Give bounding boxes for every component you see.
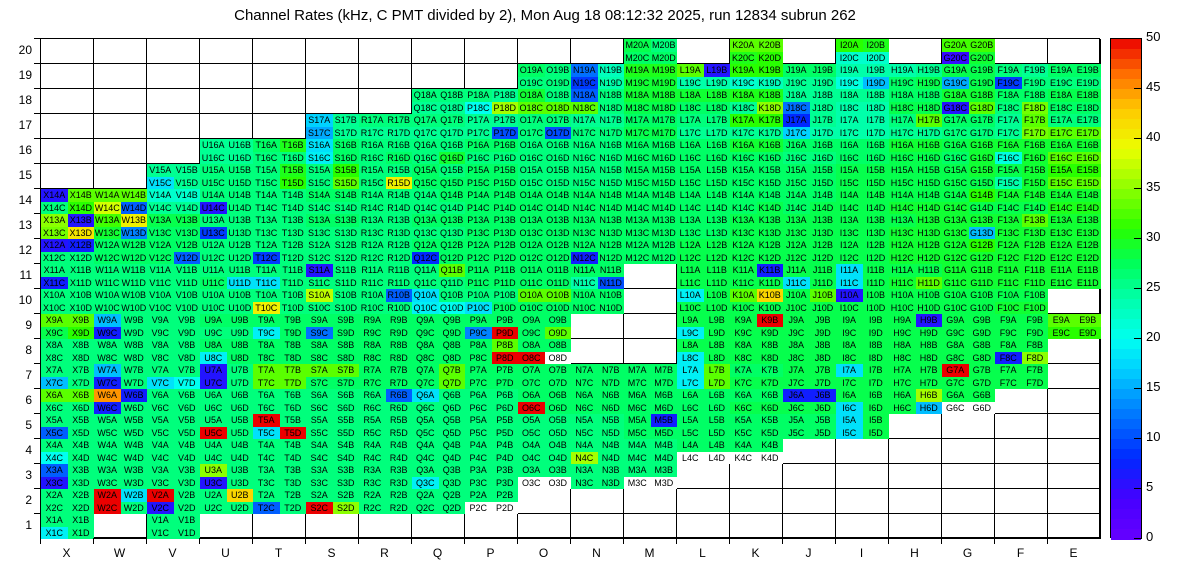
heatmap-subcell[interactable]: R2B	[386, 489, 413, 502]
heatmap-subcell[interactable]: L12A	[677, 239, 704, 252]
heatmap-tile[interactable]: R3AR3BR3CR3D	[359, 464, 412, 489]
heatmap-subcell[interactable]: Q13A	[412, 214, 439, 227]
heatmap-subcell[interactable]: H11B	[916, 264, 943, 277]
heatmap-tile[interactable]	[1048, 514, 1101, 539]
heatmap-subcell[interactable]: Q5A	[412, 414, 439, 427]
heatmap-tile[interactable]: X2AX2BX2CX2D	[41, 489, 94, 514]
heatmap-subcell[interactable]: P16A	[465, 139, 492, 152]
heatmap-subcell[interactable]: Q17D	[439, 127, 466, 140]
heatmap-subcell[interactable]: L13A	[677, 214, 704, 227]
heatmap-subcell[interactable]: L11C	[677, 277, 704, 290]
heatmap-tile[interactable]: S13AS13BS13CS13D	[306, 214, 359, 239]
heatmap-tile[interactable]	[306, 89, 359, 114]
heatmap-subcell[interactable]: I16B	[863, 139, 890, 152]
heatmap-tile[interactable]: K10AK10BK10CK10D	[730, 289, 783, 314]
heatmap-subcell[interactable]: H17B	[916, 114, 943, 127]
heatmap-subcell[interactable]: S4C	[306, 452, 333, 465]
heatmap-subcell[interactable]: Q2D	[439, 502, 466, 515]
heatmap-subcell[interactable]: R3C	[359, 477, 386, 490]
heatmap-subcell[interactable]: P7B	[492, 364, 519, 377]
heatmap-subcell[interactable]: N11C	[571, 277, 598, 290]
heatmap-tile[interactable]: I6AI6BI6CI6D	[836, 389, 889, 414]
heatmap-subcell[interactable]: F9A	[995, 314, 1022, 327]
heatmap-subcell[interactable]: I17B	[863, 114, 890, 127]
heatmap-subcell[interactable]: H17C	[889, 127, 916, 140]
heatmap-subcell[interactable]: U13A	[200, 214, 227, 227]
heatmap-subcell[interactable]: J6C	[783, 402, 810, 415]
heatmap-subcell[interactable]: F16A	[995, 139, 1022, 152]
heatmap-tile[interactable]: P9AP9BP9CP9D	[465, 314, 518, 339]
heatmap-subcell[interactable]: J16A	[783, 139, 810, 152]
heatmap-tile[interactable]	[147, 114, 200, 139]
heatmap-tile[interactable]: O14AO14BO14CO14D	[518, 189, 571, 214]
heatmap-subcell[interactable]: O15A	[518, 164, 545, 177]
heatmap-tile[interactable]: T7AT7BT7CT7D	[253, 364, 306, 389]
heatmap-tile[interactable]	[465, 514, 518, 539]
heatmap-subcell[interactable]: T14B	[280, 189, 307, 202]
heatmap-tile[interactable]: T6AT6BT6CT6D	[253, 389, 306, 414]
heatmap-subcell[interactable]: M5A	[624, 414, 651, 427]
heatmap-subcell[interactable]: H8D	[916, 352, 943, 365]
heatmap-subcell[interactable]: V8A	[147, 339, 174, 352]
heatmap-subcell[interactable]: V11C	[147, 277, 174, 290]
heatmap-subcell[interactable]: I20C	[836, 52, 863, 65]
heatmap-subcell[interactable]: V10D	[174, 302, 201, 315]
heatmap-subcell[interactable]: H8A	[889, 339, 916, 352]
heatmap-subcell[interactable]: T13C	[253, 227, 280, 240]
heatmap-subcell[interactable]: I13C	[836, 227, 863, 240]
heatmap-tile[interactable]: W7AW7BW7CW7D	[94, 364, 147, 389]
heatmap-subcell[interactable]: E17D	[1075, 127, 1102, 140]
heatmap-subcell[interactable]: V11A	[147, 264, 174, 277]
heatmap-subcell[interactable]: P3B	[492, 464, 519, 477]
heatmap-subcell[interactable]: M3D	[651, 477, 678, 490]
heatmap-tile[interactable]	[41, 164, 94, 189]
heatmap-tile[interactable]: Q5AQ5BQ5CQ5D	[412, 414, 465, 439]
heatmap-subcell[interactable]: L19C	[677, 77, 704, 90]
heatmap-subcell[interactable]: P9B	[492, 314, 519, 327]
heatmap-subcell[interactable]: S14B	[333, 189, 360, 202]
heatmap-subcell[interactable]: K5C	[730, 427, 757, 440]
heatmap-subcell[interactable]: R2A	[359, 489, 386, 502]
heatmap-subcell[interactable]: X2C	[41, 502, 68, 515]
heatmap-tile[interactable]: F7AF7BF7CF7D	[995, 364, 1048, 389]
heatmap-subcell[interactable]: K16C	[730, 152, 757, 165]
heatmap-subcell[interactable]: J9A	[783, 314, 810, 327]
heatmap-subcell[interactable]: O8C	[518, 352, 545, 365]
heatmap-subcell[interactable]: G10A	[942, 289, 969, 302]
heatmap-subcell[interactable]: G17A	[942, 114, 969, 127]
heatmap-subcell[interactable]: L13B	[704, 214, 731, 227]
heatmap-tile[interactable]: O19AO19BO19CO19D	[518, 64, 571, 89]
heatmap-subcell[interactable]: F12D	[1022, 252, 1049, 265]
heatmap-subcell[interactable]: L17D	[704, 127, 731, 140]
heatmap-tile[interactable]: W3AW3BW3CW3D	[94, 464, 147, 489]
heatmap-subcell[interactable]: T13A	[253, 214, 280, 227]
heatmap-subcell[interactable]: J9C	[783, 327, 810, 340]
heatmap-subcell[interactable]: N6A	[571, 389, 598, 402]
heatmap-tile[interactable]: G12AG12BG12CG12D	[942, 239, 995, 264]
heatmap-subcell[interactable]: V9A	[147, 314, 174, 327]
heatmap-subcell[interactable]: P13C	[465, 227, 492, 240]
heatmap-subcell[interactable]: P14C	[465, 202, 492, 215]
heatmap-tile[interactable]: F15AF15BF15CF15D	[995, 164, 1048, 189]
heatmap-subcell[interactable]: F11C	[995, 277, 1022, 290]
heatmap-subcell[interactable]: O18C	[518, 102, 545, 115]
heatmap-subcell[interactable]: Q18D	[439, 102, 466, 115]
heatmap-subcell[interactable]: O8D	[545, 352, 572, 365]
heatmap-tile[interactable]	[465, 64, 518, 89]
heatmap-subcell[interactable]: Q16B	[439, 139, 466, 152]
heatmap-subcell[interactable]: K4D	[757, 452, 784, 465]
heatmap-subcell[interactable]: Q13D	[439, 227, 466, 240]
heatmap-tile[interactable]: U12AU12BU12CU12D	[200, 239, 253, 264]
heatmap-subcell[interactable]: P6C	[465, 402, 492, 415]
heatmap-subcell[interactable]: P11D	[492, 277, 519, 290]
heatmap-subcell[interactable]: L15C	[677, 177, 704, 190]
heatmap-subcell[interactable]: L10B	[704, 289, 731, 302]
heatmap-subcell[interactable]: Q5D	[439, 427, 466, 440]
heatmap-subcell[interactable]: R4B	[386, 439, 413, 452]
heatmap-tile[interactable]: O12AO12BO12CO12D	[518, 239, 571, 264]
heatmap-subcell[interactable]: L6C	[677, 402, 704, 415]
heatmap-subcell[interactable]: G13A	[942, 214, 969, 227]
heatmap-subcell[interactable]: G14B	[969, 189, 996, 202]
heatmap-tile[interactable]: E14AE14BE14CE14D	[1048, 189, 1101, 214]
heatmap-tile[interactable]: I9AI9BI9CI9D	[836, 314, 889, 339]
heatmap-subcell[interactable]: W12C	[94, 252, 121, 265]
heatmap-subcell[interactable]: M19A	[624, 64, 651, 77]
heatmap-subcell[interactable]: O10A	[518, 289, 545, 302]
heatmap-subcell[interactable]: P3A	[465, 464, 492, 477]
heatmap-tile[interactable]: X5AX5BX5CX5D	[41, 414, 94, 439]
heatmap-subcell[interactable]: W2D	[121, 502, 148, 515]
heatmap-subcell[interactable]: I16D	[863, 152, 890, 165]
heatmap-tile[interactable]: V8AV8BV8CV8D	[147, 339, 200, 364]
heatmap-tile[interactable]: U6AU6BU6CU6D	[200, 389, 253, 414]
heatmap-subcell[interactable]: O10D	[545, 302, 572, 315]
heatmap-subcell[interactable]: T3B	[280, 464, 307, 477]
heatmap-subcell[interactable]: K19D	[757, 77, 784, 90]
heatmap-tile[interactable]: O8AO8BO8CO8D	[518, 339, 571, 364]
heatmap-subcell[interactable]: O16C	[518, 152, 545, 165]
heatmap-subcell[interactable]: P5D	[492, 427, 519, 440]
heatmap-tile[interactable]: W6AW6BW6CW6D	[94, 389, 147, 414]
heatmap-subcell[interactable]: I7C	[836, 377, 863, 390]
heatmap-subcell[interactable]: S4A	[306, 439, 333, 452]
heatmap-subcell[interactable]: F14D	[1022, 202, 1049, 215]
heatmap-subcell[interactable]: J19C	[783, 77, 810, 90]
heatmap-subcell[interactable]: J12D	[810, 252, 837, 265]
heatmap-subcell[interactable]: M3B	[651, 464, 678, 477]
heatmap-subcell[interactable]: S4D	[333, 452, 360, 465]
heatmap-subcell[interactable]: Q9D	[439, 327, 466, 340]
heatmap-tile[interactable]: M16AM16BM16CM16D	[624, 139, 677, 164]
heatmap-tile[interactable]	[412, 39, 465, 64]
heatmap-subcell[interactable]: S6C	[306, 402, 333, 415]
heatmap-tile[interactable]: M17AM17BM17CM17D	[624, 114, 677, 139]
heatmap-subcell[interactable]: K7C	[730, 377, 757, 390]
heatmap-subcell[interactable]: S12D	[333, 252, 360, 265]
heatmap-subcell[interactable]: N6B	[598, 389, 625, 402]
heatmap-subcell[interactable]: T10B	[280, 289, 307, 302]
heatmap-subcell[interactable]: T8B	[280, 339, 307, 352]
heatmap-subcell[interactable]: O4D	[545, 452, 572, 465]
heatmap-subcell[interactable]: R7B	[386, 364, 413, 377]
heatmap-subcell[interactable]: T3C	[253, 477, 280, 490]
heatmap-tile[interactable]: R11AR11BR11CR11D	[359, 264, 412, 289]
heatmap-subcell[interactable]: I13B	[863, 214, 890, 227]
heatmap-tile[interactable]	[836, 439, 889, 464]
heatmap-tile[interactable]: H18AH18BH18CH18D	[889, 89, 942, 114]
heatmap-tile[interactable]: L10AL10BL10CL10D	[677, 289, 730, 314]
heatmap-subcell[interactable]: F14C	[995, 202, 1022, 215]
heatmap-tile[interactable]: S9AS9BS9CS9D	[306, 314, 359, 339]
heatmap-subcell[interactable]: V9D	[174, 327, 201, 340]
heatmap-subcell[interactable]: R3B	[386, 464, 413, 477]
heatmap-subcell[interactable]: W8D	[121, 352, 148, 365]
heatmap-subcell[interactable]: W4D	[121, 452, 148, 465]
heatmap-tile[interactable]	[677, 514, 730, 539]
heatmap-subcell[interactable]: T16C	[253, 152, 280, 165]
heatmap-tile[interactable]	[94, 64, 147, 89]
heatmap-tile[interactable]: S6AS6BS6CS6D	[306, 389, 359, 414]
heatmap-subcell[interactable]: V15C	[147, 177, 174, 190]
heatmap-tile[interactable]	[571, 514, 624, 539]
heatmap-subcell[interactable]: Q11C	[412, 277, 439, 290]
heatmap-tile[interactable]	[995, 489, 1048, 514]
heatmap-tile[interactable]: L12AL12BL12CL12D	[677, 239, 730, 264]
heatmap-subcell[interactable]: E12D	[1075, 252, 1102, 265]
heatmap-subcell[interactable]: W3B	[121, 464, 148, 477]
heatmap-subcell[interactable]: K8A	[730, 339, 757, 352]
heatmap-subcell[interactable]: E13B	[1075, 214, 1102, 227]
heatmap-tile[interactable]: V5AV5BV5CV5D	[147, 414, 200, 439]
heatmap-tile[interactable]: I16AI16BI16CI16D	[836, 139, 889, 164]
heatmap-subcell[interactable]: E11D	[1075, 277, 1102, 290]
heatmap-subcell[interactable]: F12B	[1022, 239, 1049, 252]
heatmap-tile[interactable]: U10AU10BU10CU10D	[200, 289, 253, 314]
heatmap-subcell[interactable]: I19A	[836, 64, 863, 77]
heatmap-subcell[interactable]: F17D	[1022, 127, 1049, 140]
heatmap-tile[interactable]	[94, 514, 147, 539]
heatmap-subcell[interactable]: S5A	[306, 414, 333, 427]
heatmap-subcell[interactable]: X7A	[41, 364, 68, 377]
heatmap-subcell[interactable]: R6A	[359, 389, 386, 402]
heatmap-subcell[interactable]: G10B	[969, 289, 996, 302]
heatmap-subcell[interactable]: Q17B	[439, 114, 466, 127]
heatmap-subcell[interactable]: U12D	[227, 252, 254, 265]
heatmap-subcell[interactable]: M6A	[624, 389, 651, 402]
heatmap-tile[interactable]: Q10AQ10BQ10CQ10D	[412, 289, 465, 314]
heatmap-tile[interactable]	[1048, 289, 1101, 314]
heatmap-subcell[interactable]: R7A	[359, 364, 386, 377]
heatmap-subcell[interactable]: P5C	[465, 427, 492, 440]
heatmap-subcell[interactable]: W9C	[94, 327, 121, 340]
heatmap-subcell[interactable]: G13C	[942, 227, 969, 240]
heatmap-subcell[interactable]: F18D	[1022, 102, 1049, 115]
heatmap-subcell[interactable]: P10C	[465, 302, 492, 315]
heatmap-tile[interactable]: I12AI12BI12CI12D	[836, 239, 889, 264]
heatmap-subcell[interactable]: R14B	[386, 189, 413, 202]
heatmap-subcell[interactable]: F13C	[995, 227, 1022, 240]
heatmap-subcell[interactable]: S9A	[306, 314, 333, 327]
heatmap-subcell[interactable]: J8B	[810, 339, 837, 352]
heatmap-subcell[interactable]: F18A	[995, 89, 1022, 102]
heatmap-subcell[interactable]: I14D	[863, 202, 890, 215]
heatmap-subcell[interactable]: R7D	[386, 377, 413, 390]
heatmap-subcell[interactable]: V4A	[147, 439, 174, 452]
heatmap-subcell[interactable]: K11A	[730, 264, 757, 277]
heatmap-subcell[interactable]: S3B	[333, 464, 360, 477]
heatmap-subcell[interactable]: R10D	[386, 302, 413, 315]
heatmap-subcell[interactable]: G12A	[942, 239, 969, 252]
heatmap-tile[interactable]	[942, 464, 995, 489]
heatmap-tile[interactable]: N19AN19BN19CN19D	[571, 64, 624, 89]
heatmap-subcell[interactable]: K20C	[730, 52, 757, 65]
heatmap-subcell[interactable]: Q14D	[439, 202, 466, 215]
heatmap-tile[interactable]	[41, 64, 94, 89]
heatmap-subcell[interactable]: O19C	[518, 77, 545, 90]
heatmap-subcell[interactable]: R3D	[386, 477, 413, 490]
heatmap-tile[interactable]: H6AH6BH6CH6D	[889, 389, 942, 414]
heatmap-subcell[interactable]: S14A	[306, 189, 333, 202]
heatmap-subcell[interactable]: X2D	[68, 502, 95, 515]
heatmap-subcell[interactable]: F19C	[995, 77, 1022, 90]
heatmap-subcell[interactable]: L18A	[677, 89, 704, 102]
heatmap-subcell[interactable]: N12A	[571, 239, 598, 252]
heatmap-tile[interactable]: T9AT9BT9CT9D	[253, 314, 306, 339]
heatmap-subcell[interactable]: O18D	[545, 102, 572, 115]
heatmap-tile[interactable]: K17AK17BK17CK17D	[730, 114, 783, 139]
heatmap-subcell[interactable]: I6A	[836, 389, 863, 402]
heatmap-tile[interactable]: L6AL6BL6CL6D	[677, 389, 730, 414]
heatmap-subcell[interactable]: K19A	[730, 64, 757, 77]
heatmap-subcell[interactable]: W14C	[94, 202, 121, 215]
heatmap-tile[interactable]: M18AM18BM18CM18D	[624, 89, 677, 114]
heatmap-subcell[interactable]: M7B	[651, 364, 678, 377]
heatmap-subcell[interactable]: X12C	[41, 252, 68, 265]
heatmap-subcell[interactable]: X3D	[68, 477, 95, 490]
heatmap-subcell[interactable]: W10A	[94, 289, 121, 302]
heatmap-subcell[interactable]: U11C	[200, 277, 227, 290]
heatmap-subcell[interactable]: M12B	[651, 239, 678, 252]
heatmap-tile[interactable]: M12AM12BM12CM12D	[624, 239, 677, 264]
heatmap-subcell[interactable]: J18B	[810, 89, 837, 102]
heatmap-tile[interactable]: L15AL15BL15CL15D	[677, 164, 730, 189]
heatmap-subcell[interactable]: M14C	[624, 202, 651, 215]
heatmap-subcell[interactable]: G18D	[969, 102, 996, 115]
heatmap-subcell[interactable]: T9B	[280, 314, 307, 327]
heatmap-subcell[interactable]: L11B	[704, 264, 731, 277]
heatmap-subcell[interactable]: E19C	[1048, 77, 1075, 90]
heatmap-subcell[interactable]: L8A	[677, 339, 704, 352]
heatmap-tile[interactable]	[624, 289, 677, 314]
heatmap-subcell[interactable]: X10B	[68, 289, 95, 302]
heatmap-subcell[interactable]: N18D	[598, 102, 625, 115]
heatmap-tile[interactable]	[359, 64, 412, 89]
heatmap-subcell[interactable]: R8D	[386, 352, 413, 365]
heatmap-subcell[interactable]: P13A	[465, 214, 492, 227]
heatmap-tile[interactable]: P5AP5BP5CP5D	[465, 414, 518, 439]
heatmap-subcell[interactable]: R16B	[386, 139, 413, 152]
heatmap-tile[interactable]	[571, 339, 624, 364]
heatmap-subcell[interactable]: F19A	[995, 64, 1022, 77]
heatmap-subcell[interactable]: X12A	[41, 239, 68, 252]
heatmap-subcell[interactable]: U16B	[227, 139, 254, 152]
heatmap-subcell[interactable]: R14D	[386, 202, 413, 215]
heatmap-tile[interactable]: Q15AQ15BQ15CQ15D	[412, 164, 465, 189]
heatmap-tile[interactable]: N16AN16BN16CN16D	[571, 139, 624, 164]
heatmap-subcell[interactable]: E18C	[1048, 102, 1075, 115]
heatmap-subcell[interactable]: F14B	[1022, 189, 1049, 202]
heatmap-subcell[interactable]: P4D	[492, 452, 519, 465]
heatmap-subcell[interactable]: P8C	[465, 352, 492, 365]
heatmap-tile[interactable]: V10AV10BV10CV10D	[147, 289, 200, 314]
heatmap-subcell[interactable]: R13D	[386, 227, 413, 240]
heatmap-subcell[interactable]: V1A	[147, 514, 174, 527]
heatmap-subcell[interactable]: G19A	[942, 64, 969, 77]
heatmap-tile[interactable]: P16AP16BP16CP16D	[465, 139, 518, 164]
heatmap-tile[interactable]: N7AN7BN7CN7D	[571, 364, 624, 389]
heatmap-subcell[interactable]: S9B	[333, 314, 360, 327]
heatmap-subcell[interactable]: T4C	[253, 452, 280, 465]
heatmap-subcell[interactable]: T4D	[280, 452, 307, 465]
heatmap-subcell[interactable]: O6D	[545, 402, 572, 415]
heatmap-subcell[interactable]: V12C	[147, 252, 174, 265]
heatmap-subcell[interactable]: G17B	[969, 114, 996, 127]
heatmap-tile[interactable]: J13AJ13BJ13CJ13D	[783, 214, 836, 239]
heatmap-subcell[interactable]: M17A	[624, 114, 651, 127]
heatmap-subcell[interactable]: L6D	[704, 402, 731, 415]
heatmap-subcell[interactable]: G7B	[969, 364, 996, 377]
heatmap-subcell[interactable]: V3A	[147, 464, 174, 477]
heatmap-tile[interactable]: M5AM5BM5CM5D	[624, 414, 677, 439]
heatmap-subcell[interactable]: R8B	[386, 339, 413, 352]
heatmap-subcell[interactable]: M17C	[624, 127, 651, 140]
heatmap-subcell[interactable]: V5D	[174, 427, 201, 440]
heatmap-subcell[interactable]: F11A	[995, 264, 1022, 277]
heatmap-subcell[interactable]: Q13C	[412, 227, 439, 240]
heatmap-subcell[interactable]: U10C	[200, 302, 227, 315]
heatmap-tile[interactable]: S17AS17BS17CS17D	[306, 114, 359, 139]
heatmap-tile[interactable]: Q16AQ16BQ16CQ16D	[412, 139, 465, 164]
heatmap-subcell[interactable]: X8B	[68, 339, 95, 352]
heatmap-subcell[interactable]: G10D	[969, 302, 996, 315]
heatmap-tile[interactable]: J5AJ5BJ5CJ5D	[783, 414, 836, 439]
heatmap-tile[interactable]: G11AG11BG11CG11D	[942, 264, 995, 289]
heatmap-subcell[interactable]: K10A	[730, 289, 757, 302]
heatmap-tile[interactable]: W8AW8BW8CW8D	[94, 339, 147, 364]
heatmap-tile[interactable]: R7AR7BR7CR7D	[359, 364, 412, 389]
heatmap-subcell[interactable]: U11B	[227, 264, 254, 277]
heatmap-tile[interactable]	[1048, 389, 1101, 414]
heatmap-subcell[interactable]: S10D	[333, 302, 360, 315]
heatmap-subcell[interactable]: E9A	[1048, 314, 1075, 327]
heatmap-subcell[interactable]: Q16C	[412, 152, 439, 165]
heatmap-tile[interactable]	[942, 414, 995, 439]
heatmap-tile[interactable]: I19AI19BI19CI19D	[836, 64, 889, 89]
heatmap-subcell[interactable]: R4D	[386, 452, 413, 465]
heatmap-subcell[interactable]: I17C	[836, 127, 863, 140]
heatmap-subcell[interactable]: O15D	[545, 177, 572, 190]
heatmap-subcell[interactable]: S17C	[306, 127, 333, 140]
heatmap-subcell[interactable]: O14D	[545, 202, 572, 215]
heatmap-subcell[interactable]: P17B	[492, 114, 519, 127]
heatmap-subcell[interactable]: O13C	[518, 227, 545, 240]
heatmap-subcell[interactable]: X8A	[41, 339, 68, 352]
heatmap-subcell[interactable]: P10D	[492, 302, 519, 315]
